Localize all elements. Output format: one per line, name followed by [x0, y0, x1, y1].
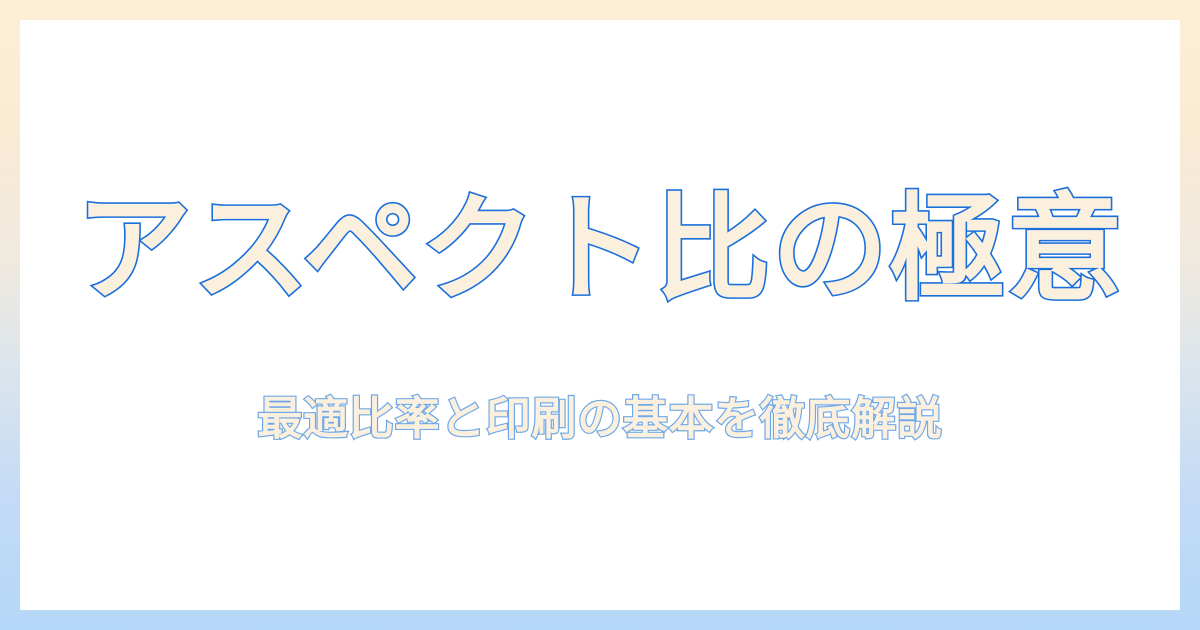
subtitle-block: 最適比率と印刷の基本を徹底解説	[20, 396, 1180, 441]
card-inner-panel: アスペクト比の極意 最適比率と印刷の基本を徹底解説	[20, 20, 1180, 610]
page-title: アスペクト比の極意	[76, 192, 1124, 308]
og-image-card: アスペクト比の極意 最適比率と印刷の基本を徹底解説	[0, 0, 1200, 630]
page-subtitle: 最適比率と印刷の基本を徹底解説	[257, 396, 942, 441]
title-block: アスペクト比の極意	[20, 192, 1180, 308]
